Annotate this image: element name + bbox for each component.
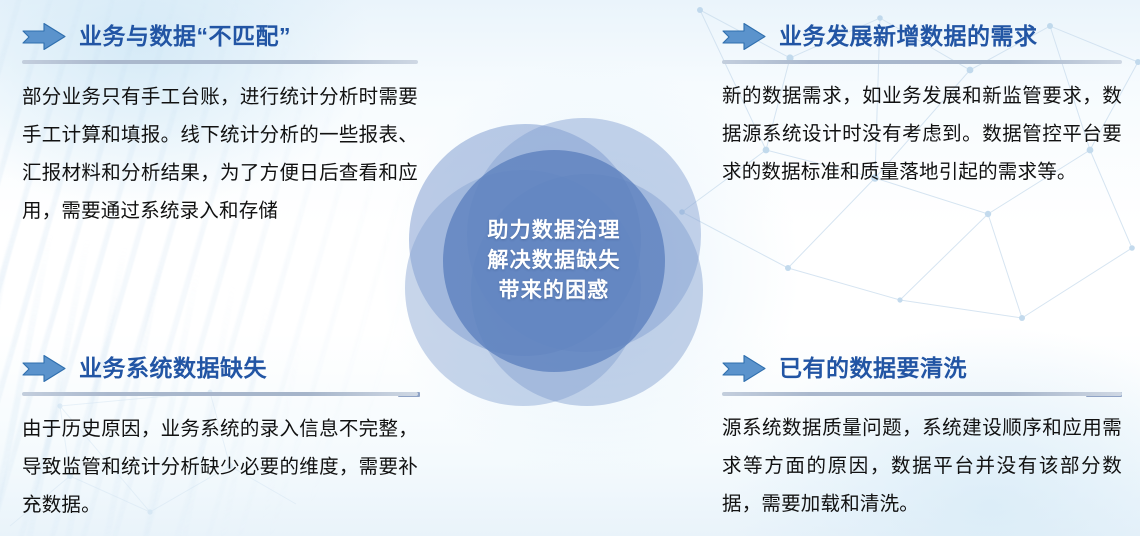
quadrant-title: 业务系统数据缺失 xyxy=(79,357,267,380)
quadrant-title: 已有的数据要清洗 xyxy=(779,357,967,380)
center-statement-line-1: 助力数据治理 xyxy=(487,216,620,246)
slide-canvas: 助力数据治理 解决数据缺失 带来的困惑 业务与数据“不匹配” 部分业务只有手工台… xyxy=(0,0,1140,536)
quadrant-business-data-mismatch: 业务与数据“不匹配” 部分业务只有手工台账，进行统计分析时需要手工计算和填报。线… xyxy=(22,16,418,230)
quadrant-body: 部分业务只有手工台账，进行统计分析时需要手工计算和填报。线下统计分析的一些报表、… xyxy=(22,78,418,230)
quadrant-header: 已有的数据要清洗 xyxy=(722,348,1122,388)
arrow-right-icon xyxy=(722,355,766,382)
quadrant-existing-data-cleaning: 已有的数据要清洗 源系统数据质量问题，系统建设顺序和应用需求等方面的原因，数据平… xyxy=(722,348,1122,523)
quadrant-body: 由于历史原因，业务系统的录入信息不完整，导致监管和统计分析缺少必要的维度，需要补… xyxy=(22,410,418,524)
quadrant-header: 业务与数据“不匹配” xyxy=(22,16,418,56)
quadrant-title: 业务与数据“不匹配” xyxy=(79,25,291,48)
quadrant-title: 业务发展新增数据的需求 xyxy=(779,25,1038,48)
arrow-right-icon xyxy=(22,355,66,382)
quadrant-header: 业务系统数据缺失 xyxy=(22,348,418,388)
quadrant-body: 新的数据需求，如业务发展和新监管要求，数据源系统设计时没有考虑到。数据管控平台要… xyxy=(722,77,1122,191)
quadrant-new-data-demand: 业务发展新增数据的需求 新的数据需求，如业务发展和新监管要求，数据源系统设计时没… xyxy=(722,16,1122,191)
center-statement-line-3: 带来的困惑 xyxy=(499,276,610,306)
center-statement-line-2: 解决数据缺失 xyxy=(487,246,620,276)
center-venn-graphic: 助力数据治理 解决数据缺失 带来的困惑 xyxy=(405,112,705,408)
quadrant-body: 源系统数据质量问题，系统建设顺序和应用需求等方面的原因，数据平台并没有该部分数据… xyxy=(722,409,1122,523)
quadrant-divider xyxy=(722,60,1122,64)
arrow-right-icon xyxy=(722,23,766,50)
quadrant-business-system-data-missing: 业务系统数据缺失 由于历史原因，业务系统的录入信息不完整，导致监管和统计分析缺少… xyxy=(22,348,418,524)
arrow-right-icon xyxy=(22,23,66,50)
center-statement: 助力数据治理 解决数据缺失 带来的困惑 xyxy=(443,150,665,372)
quadrant-divider xyxy=(722,392,1122,396)
quadrant-divider xyxy=(22,392,418,396)
quadrant-divider xyxy=(22,60,418,64)
quadrant-header: 业务发展新增数据的需求 xyxy=(722,16,1122,56)
